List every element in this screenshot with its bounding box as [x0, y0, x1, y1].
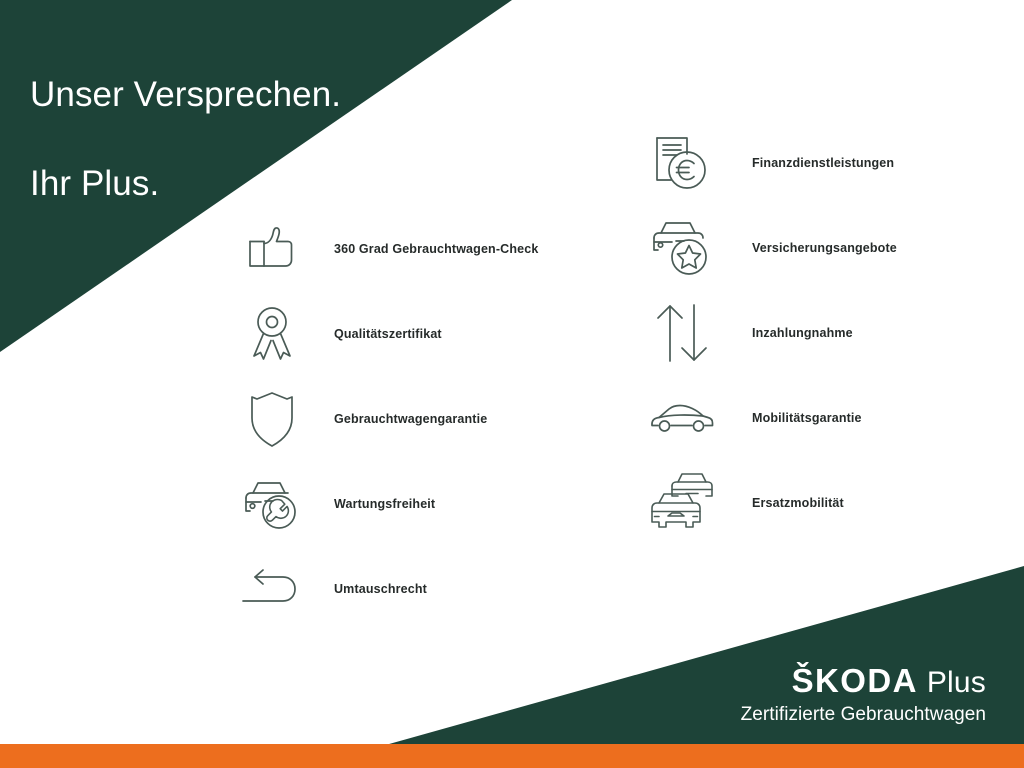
- feature-item: Inzahlungnahme: [646, 290, 897, 375]
- headline-line-2: Ihr Plus.: [30, 162, 341, 207]
- logo-suffix: Plus: [927, 668, 986, 698]
- feature-label: Qualitätszertifikat: [334, 327, 442, 341]
- logo-subtitle: Zertifizierte Gebrauchtwagen: [741, 705, 986, 724]
- feature-label: Gebrauchtwagengarantie: [334, 412, 487, 426]
- feature-column-right: Finanzdienstleistungen Versicheru: [646, 120, 897, 545]
- feature-label: Umtauschrecht: [334, 582, 427, 596]
- feature-column-left: 360 Grad Gebrauchtwagen-Check Qualitätsz…: [236, 206, 538, 631]
- feature-item: Ersatzmobilität: [646, 460, 897, 545]
- skoda-plus-logo: ŠKODA Plus Zertifizierte Gebrauchtwagen: [741, 664, 986, 724]
- headline-line-1: Unser Versprechen.: [30, 73, 341, 118]
- document-euro-icon: [646, 127, 718, 199]
- feature-label: Ersatzmobilität: [752, 496, 844, 510]
- car-side-icon: [646, 382, 718, 454]
- award-rosette-icon: [236, 298, 308, 370]
- u-turn-arrow-icon: [236, 553, 308, 625]
- feature-item: Versicherungsangebote: [646, 205, 897, 290]
- feature-item: Gebrauchtwagengarantie: [236, 376, 538, 461]
- feature-label: Wartungsfreiheit: [334, 497, 435, 511]
- feature-item: Mobilitätsgarantie: [646, 375, 897, 460]
- feature-item: Wartungsfreiheit: [236, 461, 538, 546]
- feature-item: Qualitätszertifikat: [236, 291, 538, 376]
- two-cars-icon: [646, 467, 718, 539]
- car-wrench-icon: [236, 468, 308, 540]
- up-down-arrows-icon: [646, 297, 718, 369]
- car-star-icon: [646, 212, 718, 284]
- feature-label: Finanzdienstleistungen: [752, 156, 894, 170]
- page-title: Unser Versprechen. Ihr Plus.: [30, 28, 341, 252]
- feature-item: Finanzdienstleistungen: [646, 120, 897, 205]
- feature-item: Umtauschrecht: [236, 546, 538, 631]
- promo-slide: Unser Versprechen. Ihr Plus. 360 Grad Ge…: [0, 0, 1024, 768]
- logo-wordmark-row: ŠKODA Plus: [741, 664, 986, 698]
- feature-label: 360 Grad Gebrauchtwagen-Check: [334, 242, 538, 256]
- feature-label: Inzahlungnahme: [752, 326, 853, 340]
- logo-wordmark: ŠKODA: [792, 664, 918, 697]
- shield-icon: [236, 383, 308, 455]
- feature-label: Versicherungsangebote: [752, 241, 897, 255]
- feature-label: Mobilitätsgarantie: [752, 411, 862, 425]
